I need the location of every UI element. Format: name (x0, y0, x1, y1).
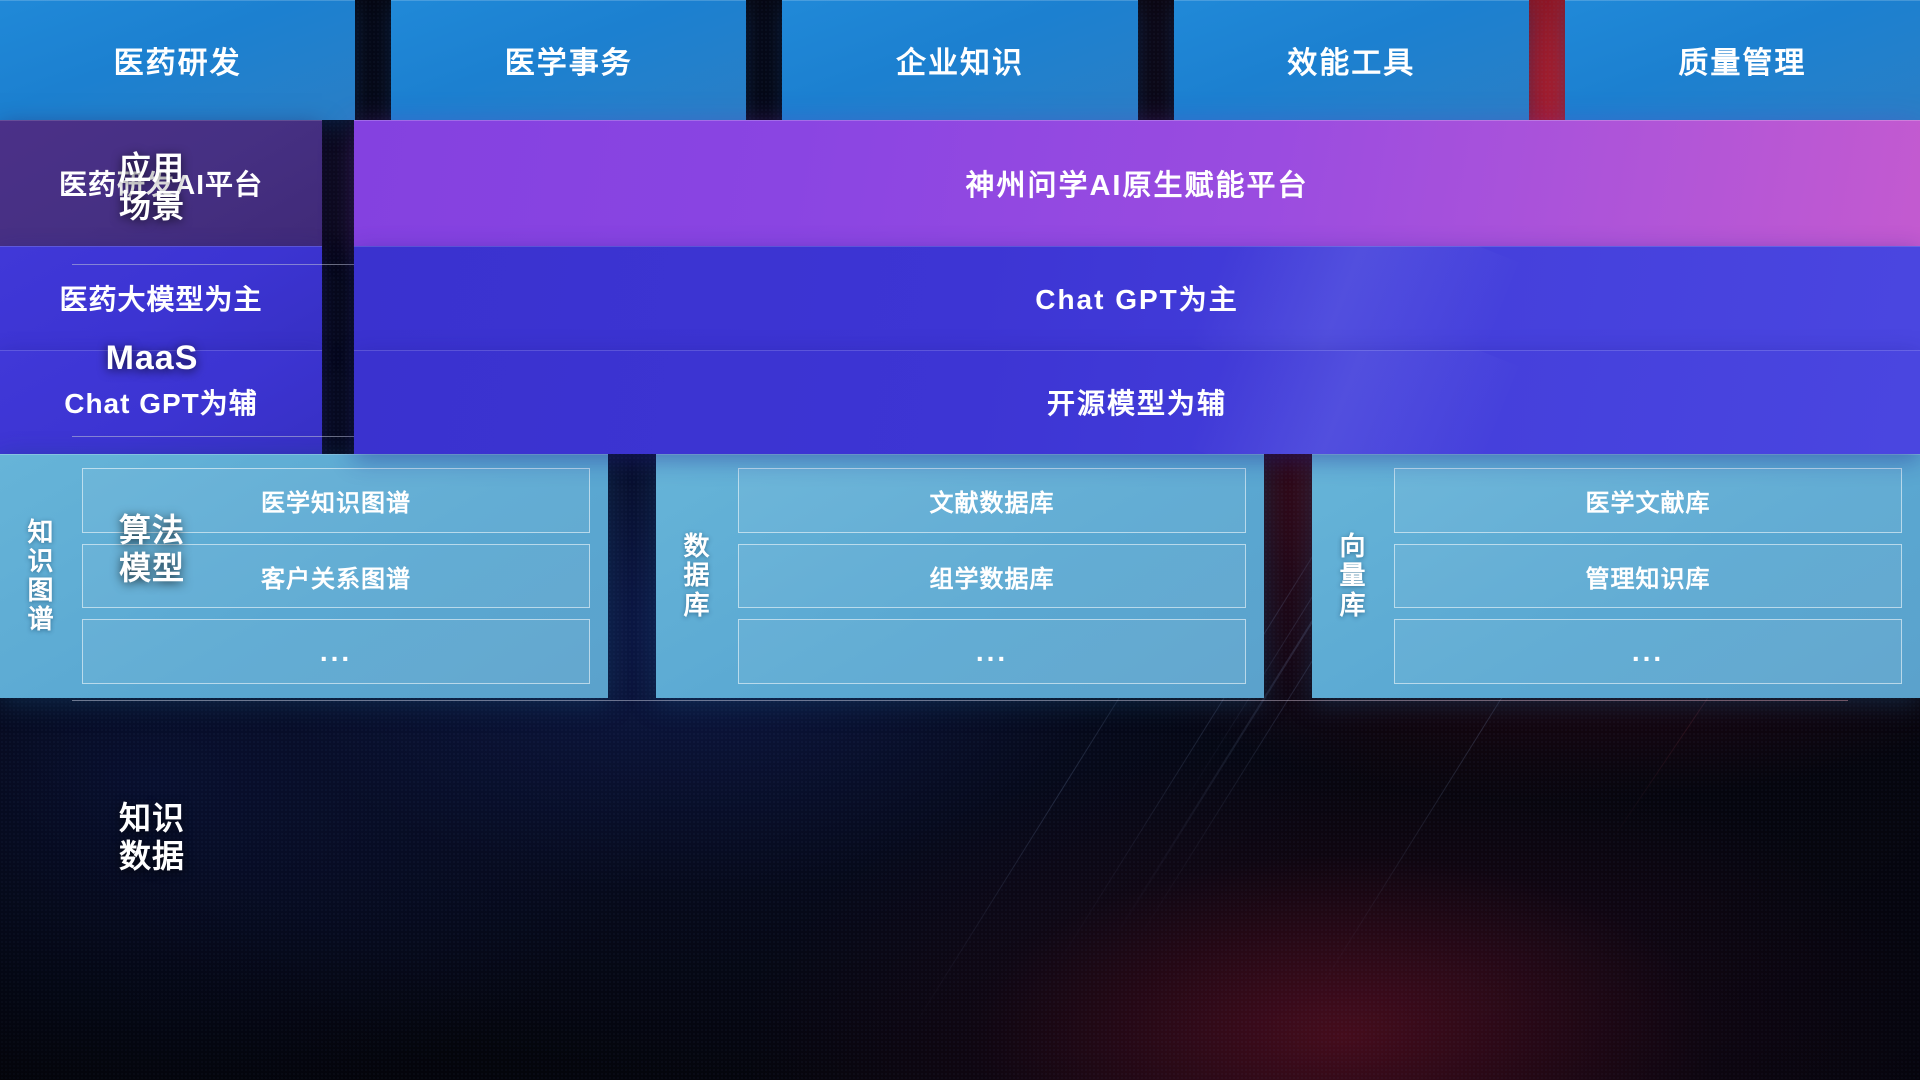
application-row: 医药研发 医学事务 企业知识 效能工具 质量管理 (0, 0, 1920, 120)
knowledge-item-omics-database[interactable]: 组学数据库 (738, 544, 1246, 609)
knowledge-item-more-vector-store[interactable]: ... (1394, 619, 1902, 684)
row-label-application: 应用 场景 (72, 150, 232, 226)
knowledge-item-more-database[interactable]: ... (738, 619, 1246, 684)
app-box-medicine-rd[interactable]: 医药研发 (0, 0, 355, 120)
knowledge-items-database: 文献数据库 组学数据库 ... (738, 468, 1246, 684)
row-label-algorithm-line1: 算法 (72, 512, 232, 550)
algorithm-row-primary: 医药大模型为主 Chat GPT为主 (0, 246, 1920, 350)
knowledge-item-management-knowledge-store[interactable]: 管理知识库 (1394, 544, 1902, 609)
knowledge-group-label-knowledge-graph: 知识图谱 (10, 468, 72, 684)
app-box-enterprise-knowledge[interactable]: 企业知识 (782, 0, 1137, 120)
knowledge-items-vector-store: 医学文献库 管理知识库 ... (1394, 468, 1902, 684)
row-label-application-line2: 场景 (72, 188, 232, 226)
row-label-knowledge-line1: 知识 (72, 800, 232, 838)
algorithm-row-secondary: Chat GPT为辅 开源模型为辅 (0, 350, 1920, 454)
algo-box-chatgpt-primary[interactable]: Chat GPT为主 (354, 246, 1920, 350)
knowledge-group-label-database: 数据库 (666, 468, 728, 684)
knowledge-item-medical-literature-store[interactable]: 医学文献库 (1394, 468, 1902, 533)
maas-box-shenzhou-wenxue-platform[interactable]: 神州问学AI原生赋能平台 (354, 120, 1920, 246)
knowledge-item-more-knowledge-graph[interactable]: ... (82, 619, 590, 684)
app-box-efficiency-tools[interactable]: 效能工具 (1174, 0, 1529, 120)
row-label-algorithm: 算法 模型 (72, 512, 232, 588)
row-label-algorithm-line2: 模型 (72, 550, 232, 588)
algo-box-opensource-secondary-label: 开源模型为辅 (1047, 382, 1227, 422)
row-label-maas: MaaS (72, 338, 232, 378)
knowledge-group-label-vector-store: 向量库 (1322, 468, 1384, 684)
sheen-overlay (1188, 350, 1522, 454)
knowledge-row: 知识图谱 医学知识图谱 客户关系图谱 ... 数据库 文献数据库 组学数据库 .… (0, 454, 1920, 698)
knowledge-group-database: 数据库 文献数据库 组学数据库 ... (656, 454, 1264, 698)
row-label-knowledge: 知识 数据 (72, 800, 232, 876)
knowledge-group-vector-store: 向量库 医学文献库 管理知识库 ... (1312, 454, 1920, 698)
algo-box-chatgpt-primary-label: Chat GPT为主 (1035, 278, 1239, 318)
app-box-medical-affairs[interactable]: 医学事务 (391, 0, 746, 120)
architecture-diagram: 应用 场景 医药研发 医学事务 企业知识 效能工具 质量管理 MaaS 医药研发… (0, 0, 1920, 1080)
row-label-application-line1: 应用 (72, 150, 232, 188)
algo-box-opensource-secondary[interactable]: 开源模型为辅 (354, 350, 1920, 454)
app-box-quality-management[interactable]: 质量管理 (1565, 0, 1920, 120)
maas-row: 医药研发AI平台 神州问学AI原生赋能平台 (0, 120, 1920, 246)
algo-box-pharma-large-model-primary[interactable]: 医药大模型为主 (0, 246, 322, 350)
row-label-knowledge-line2: 数据 (72, 838, 232, 876)
divider-algorithm-knowledge (72, 700, 1848, 701)
knowledge-item-literature-database[interactable]: 文献数据库 (738, 468, 1246, 533)
